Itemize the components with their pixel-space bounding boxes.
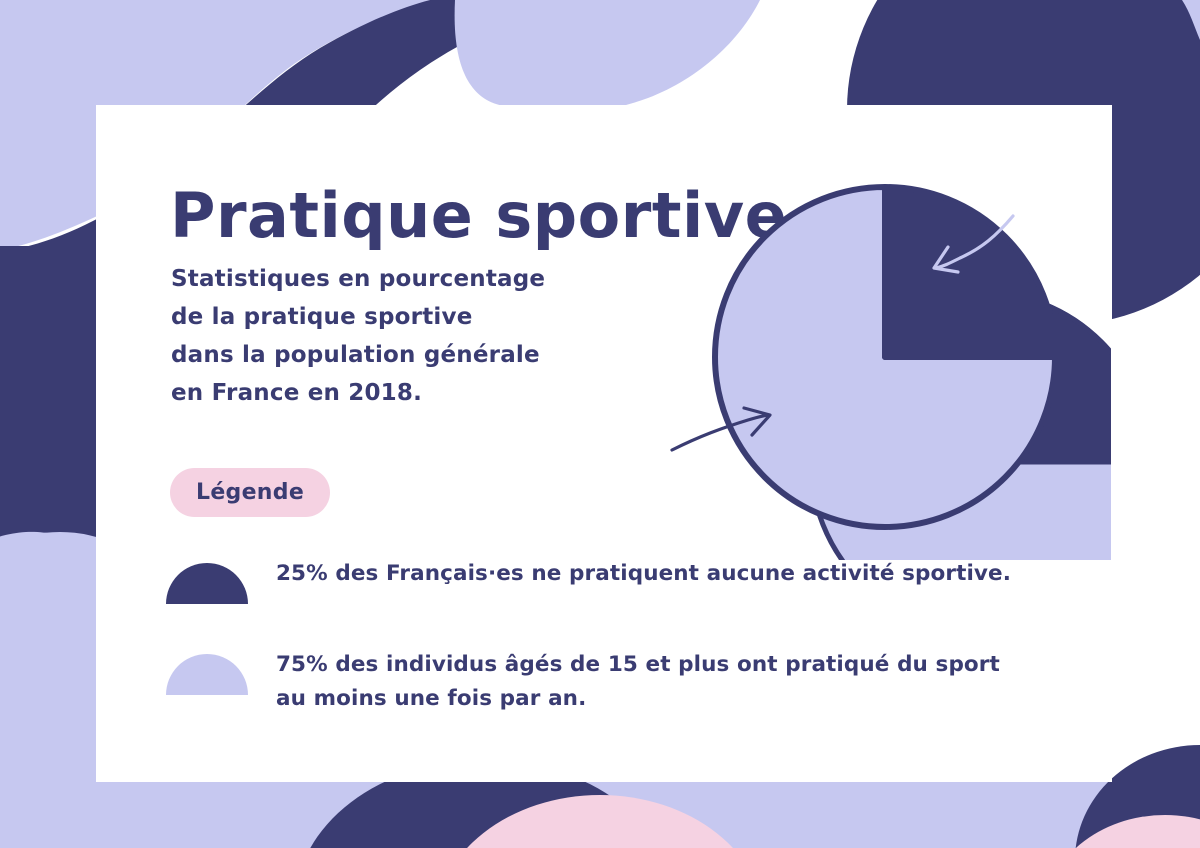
pie-chart-overlay	[0, 0, 1200, 848]
pie-slice-25-shape	[885, 187, 1055, 357]
infographic-poster: Pratique sportive Statistiques en pource…	[0, 0, 1200, 848]
